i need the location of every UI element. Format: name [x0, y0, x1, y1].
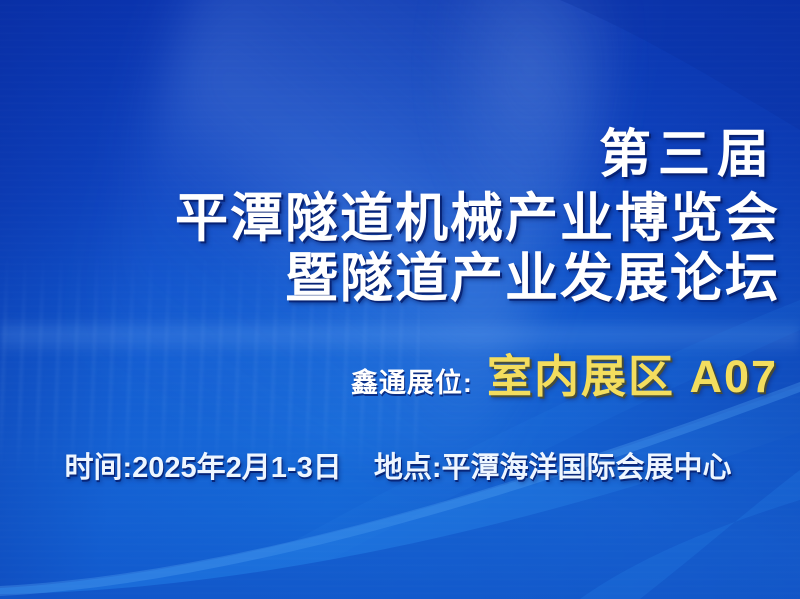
poster-subtitle: 暨隧道产业发展论坛: [285, 236, 780, 312]
booth-number: 室内展区 A07: [487, 340, 778, 405]
booth-label: 鑫通展位:: [351, 361, 473, 400]
exhibition-poster: 第三届 平潭隧道机械产业博览会 暨隧道产业发展论坛 鑫通展位: 室内展区 A07…: [0, 0, 800, 599]
event-time: 时间:2025年2月1-3日: [64, 452, 341, 484]
event-place: 地点:平潭海洋国际会展中心: [374, 452, 732, 484]
booth-info: 鑫通展位: 室内展区 A07: [351, 340, 778, 405]
poster-meta: 时间:2025年2月1-3日 地点:平潭海洋国际会展中心: [8, 444, 788, 486]
